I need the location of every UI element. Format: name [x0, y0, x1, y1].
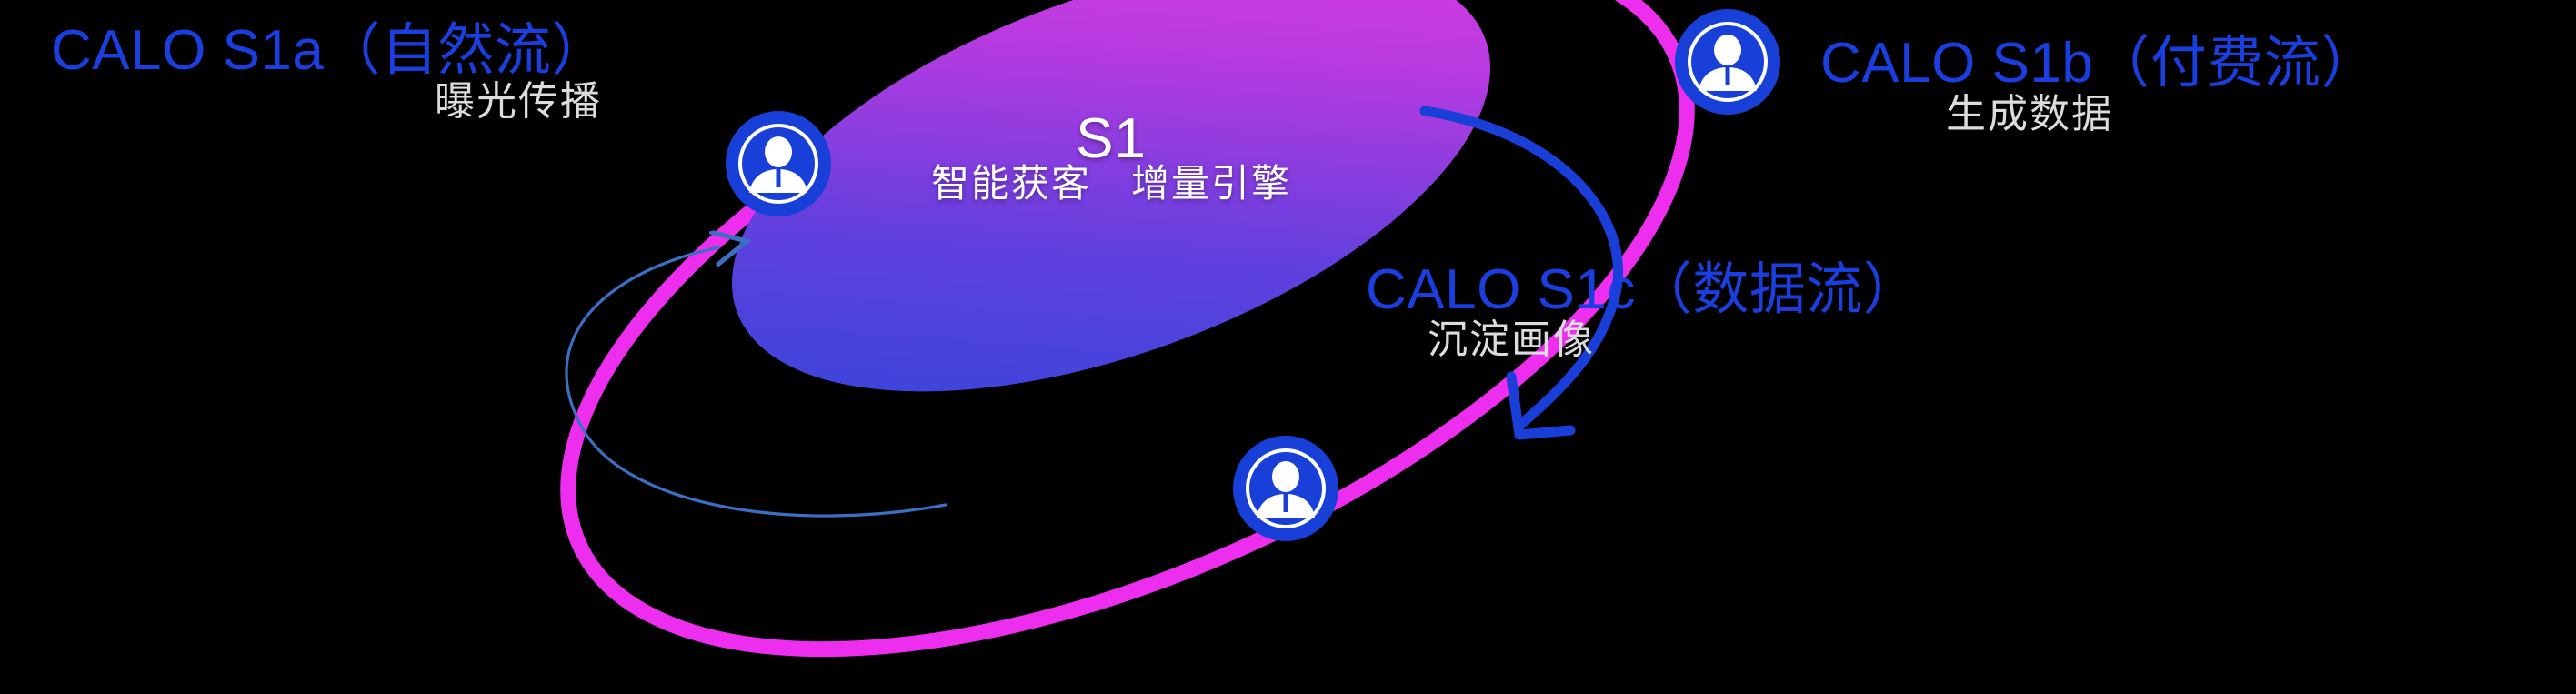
node-label-s1a-sub: 曝光传播: [435, 80, 602, 124]
diagram-canvas: S1 智能获客 增量引擎 CALO S1a（自然流） 曝光传播 CALO S1b…: [0, 0, 2576, 694]
node-label-s1c-brand: CALO S1c（数据流）: [1366, 259, 1919, 321]
node-badge-s1b[interactable]: [1675, 9, 1780, 115]
node-label-s1c-sub: 沉淀画像: [1428, 318, 1595, 362]
core-ellipse: [676, 0, 1546, 479]
node-label-s1a-brand: CALO S1a（自然流）: [51, 20, 608, 82]
node-badge-s1a[interactable]: [726, 111, 831, 216]
node-badge-s1c[interactable]: [1233, 436, 1338, 541]
orbit-diagram-graphic: [0, 0, 2576, 694]
node-label-s1b-sub: 生成数据: [1946, 93, 2113, 136]
node-label-s1b-brand: CALO S1b（付费流）: [1820, 33, 2378, 95]
core-subtitle: 智能获客 增量引擎: [931, 153, 1291, 208]
